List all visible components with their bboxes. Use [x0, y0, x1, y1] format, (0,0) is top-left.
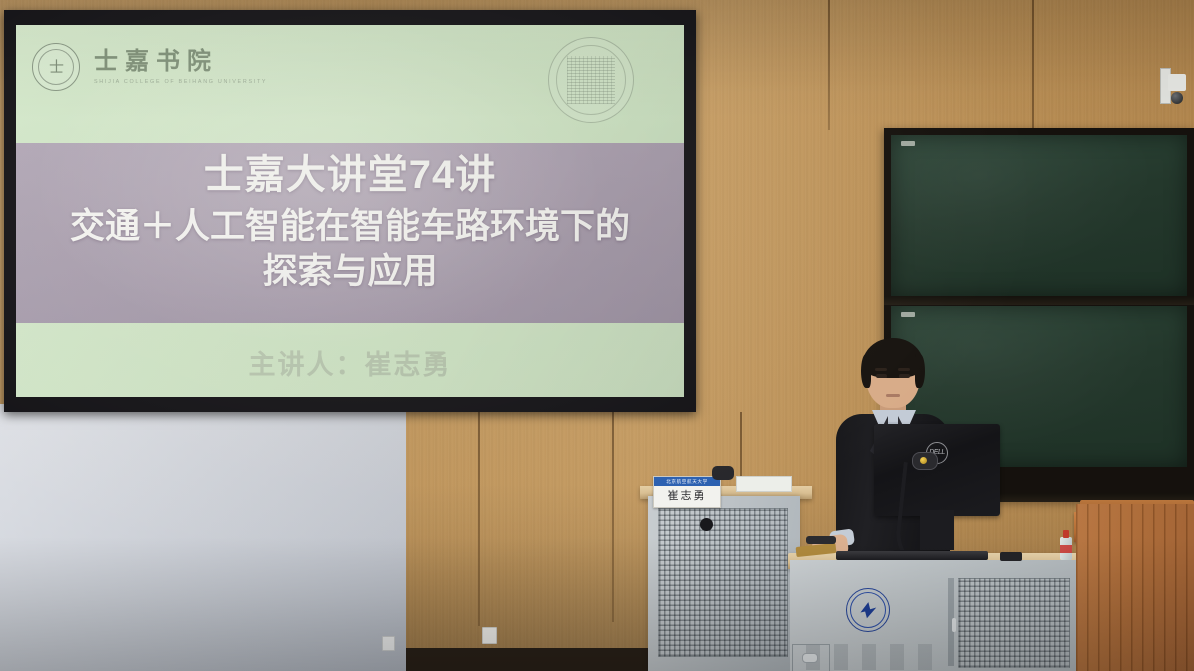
- nameplate-org: 北京航空航天大学: [654, 477, 720, 486]
- presenter-eyebrow: [898, 368, 910, 371]
- white-wall: [0, 404, 406, 671]
- college-name-en: SHIJIA COLLEGE OF BEIHANG UNIVERSITY: [94, 79, 267, 85]
- wall-camera: [1160, 68, 1186, 114]
- bottle-label: [1060, 545, 1072, 553]
- lecture-hall-scene: 士 士嘉书院 SHIJIA COLLEGE OF BEIHANG UNIVERS…: [0, 0, 1194, 671]
- chalk-piece: [901, 141, 915, 146]
- lectern-door-handle[interactable]: [952, 618, 956, 632]
- presenter-hair-side: [915, 354, 925, 388]
- presenter-mouth: [886, 394, 900, 397]
- light-switch[interactable]: [482, 627, 497, 644]
- slide-subtitle: 交通＋人工智能在智能车路环境下的 探索与应用: [16, 205, 684, 295]
- wooden-podium: [1076, 504, 1194, 671]
- presenter-eye: [876, 374, 887, 378]
- chalkboard-panel-upper: [891, 135, 1187, 296]
- cable-grommet: [700, 518, 713, 531]
- presenter-eyebrow: [875, 368, 887, 371]
- lectern-drawer-handle[interactable]: [802, 653, 818, 663]
- projector-screen: 士 士嘉书院 SHIJIA COLLEGE OF BEIHANG UNIVERS…: [16, 25, 684, 397]
- mobile-phone[interactable]: [1000, 552, 1022, 561]
- wall-panel-seam: [828, 0, 830, 130]
- desk-cable-coil: [712, 466, 734, 480]
- slide-brand: 士 士嘉书院 SHIJIA COLLEGE OF BEIHANG UNIVERS…: [32, 43, 267, 91]
- chalk-piece: [901, 312, 915, 317]
- baseboard: [406, 648, 656, 671]
- slide-subtitle-line-2: 探索与应用: [26, 250, 674, 295]
- desk-device-box: [736, 476, 792, 492]
- slide-subtitle-line-1: 交通＋人工智能在智能车路环境下的: [26, 205, 674, 250]
- lectern-vent-panel: [958, 578, 1070, 668]
- cabinet-vent-panel: [658, 508, 788, 657]
- camera-lens-icon: [1171, 92, 1183, 104]
- desk-cable: [806, 536, 836, 544]
- college-name: 士嘉书院: [94, 49, 267, 73]
- projector-screen-frame: 士 士嘉书院 SHIJIA COLLEGE OF BEIHANG UNIVERS…: [4, 10, 696, 412]
- nameplate-name: 崔志勇: [654, 486, 720, 506]
- speaker-nameplate: 北京航空航天大学 崔志勇: [653, 476, 721, 508]
- lectern-cabinet: [790, 560, 1076, 671]
- water-bottle[interactable]: [1060, 530, 1072, 560]
- beihang-logo-mark: [859, 601, 877, 619]
- college-seal-glyph: 士: [49, 60, 63, 75]
- microphone-led-icon: [920, 457, 927, 464]
- camera-body: [1168, 74, 1186, 91]
- university-seal-core: [567, 56, 615, 104]
- keyboard[interactable]: [836, 551, 988, 560]
- wall-panel-seam: [612, 412, 614, 622]
- presenter-eye: [899, 374, 910, 378]
- chalkboard-rail: [884, 296, 1194, 305]
- wall-panel-seam: [478, 412, 480, 626]
- university-seal-icon: [548, 37, 634, 123]
- slide-speaker-line: 主讲人：崔志勇: [16, 343, 684, 382]
- side-cabinet: [648, 496, 800, 671]
- slide-title: 士嘉大讲堂74讲: [16, 153, 684, 197]
- wall-socket[interactable]: [382, 636, 395, 651]
- bottle-cap: [1063, 530, 1069, 538]
- beihang-logo-icon: [846, 588, 890, 632]
- presenter-hair-side: [861, 354, 871, 388]
- college-seal-icon: 士: [32, 43, 80, 91]
